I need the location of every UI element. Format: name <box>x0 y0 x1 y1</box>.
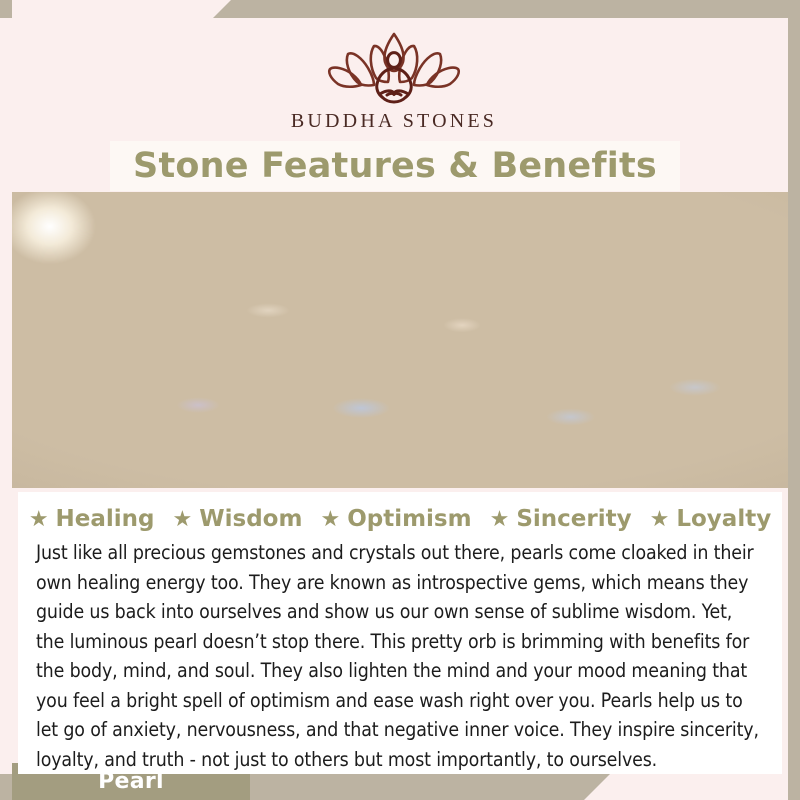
infographic-poster: BUDDHA STONES Stone Features & Benefits … <box>0 0 800 800</box>
star-icon: ★ <box>650 508 670 530</box>
keyword-label: Wisdom <box>199 506 302 532</box>
keyword-item-wisdom: ★ Wisdom <box>164 506 312 532</box>
keyword-label: Optimism <box>347 506 471 532</box>
keyword-item-sincerity: ★ Sincerity <box>481 506 641 532</box>
keyword-item-loyalty: ★ Loyalty <box>641 506 781 532</box>
pearl-photo-texture <box>12 192 788 488</box>
title-band: Stone Features & Benefits <box>110 141 680 191</box>
keyword-item-optimism: ★ Optimism <box>311 506 480 532</box>
brand-name: BUDDHA STONES <box>291 110 497 133</box>
brand-header: BUDDHA STONES <box>0 18 788 138</box>
stone-photo <box>12 192 788 488</box>
keyword-label: Loyalty <box>676 506 771 532</box>
star-icon: ★ <box>173 508 193 530</box>
keyword-label: Healing <box>56 506 155 532</box>
benefit-keywords-row: ★ Healing ★ Wisdom ★ Optimism ★ Sincerit… <box>36 506 764 532</box>
star-icon: ★ <box>490 508 510 530</box>
corner-accent-right-strip <box>788 0 800 800</box>
keyword-label: Sincerity <box>516 506 631 532</box>
stone-description: Just like all precious gemstones and cry… <box>36 538 764 774</box>
content-panel: ★ Healing ★ Wisdom ★ Optimism ★ Sincerit… <box>18 492 782 774</box>
lotus-meditation-icon <box>324 28 464 108</box>
star-icon: ★ <box>29 508 49 530</box>
star-icon: ★ <box>320 508 340 530</box>
page-title: Stone Features & Benefits <box>133 146 657 186</box>
keyword-item-healing: ★ Healing <box>20 506 164 532</box>
